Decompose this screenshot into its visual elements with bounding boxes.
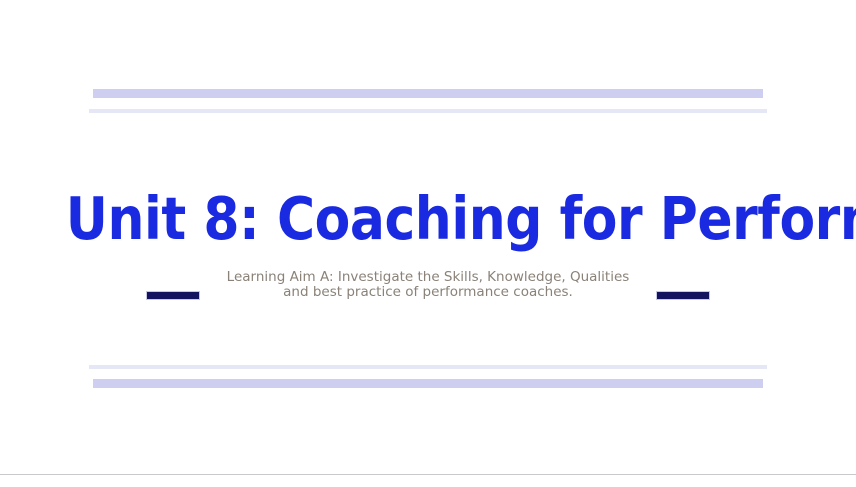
- bottom-accent-bar: [93, 379, 763, 388]
- top-accent-line: [89, 109, 767, 113]
- slide-title: Unit 8: Coaching for Performance: [66, 184, 856, 254]
- slide-canvas: Unit 8: Coaching for Performance Learnin…: [0, 0, 856, 474]
- left-dash: [146, 291, 200, 300]
- top-accent-bar: [93, 89, 763, 98]
- title-container: Unit 8: Coaching for Performance: [0, 184, 856, 254]
- subtitle-container: Learning Aim A: Investigate the Skills, …: [0, 270, 856, 300]
- right-dash: [656, 291, 710, 300]
- bottom-accent-line: [89, 365, 767, 369]
- slide-subtitle: Learning Aim A: Investigate the Skills, …: [218, 270, 638, 300]
- page-gutter: [0, 475, 856, 487]
